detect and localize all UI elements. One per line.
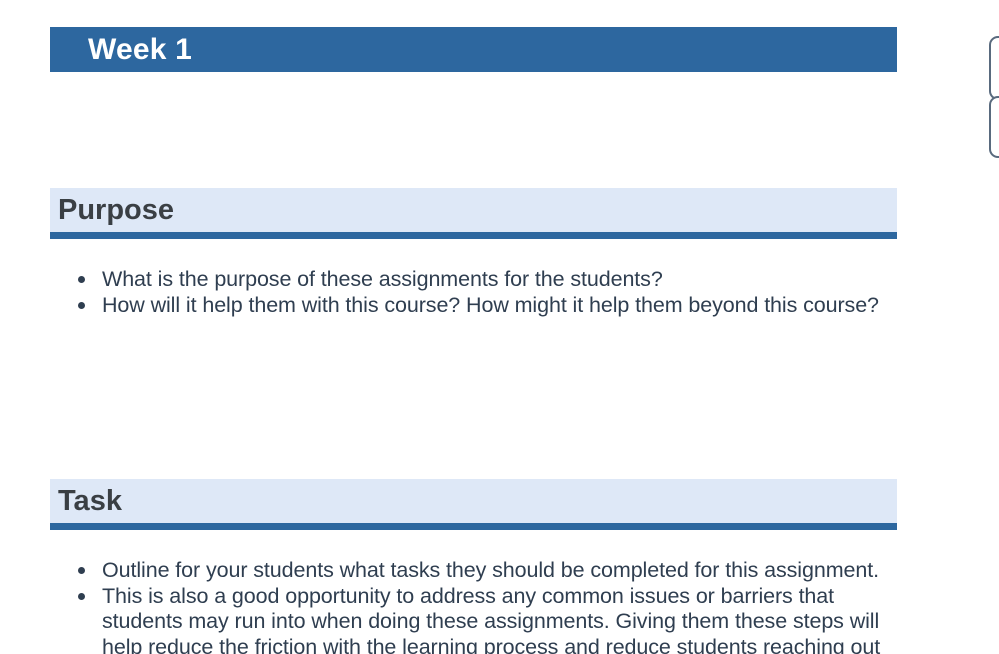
- list-item: This is also a good opportunity to addre…: [50, 584, 897, 654]
- list-item-text: How will it help them with this course? …: [102, 293, 879, 317]
- section-purpose: Purpose What is the purpose of these ass…: [50, 188, 897, 318]
- list-item-text: Outline for your students what tasks the…: [102, 558, 879, 582]
- list-item-text: This is also a good opportunity to addre…: [102, 584, 880, 654]
- task-bullet-list: Outline for your students what tasks the…: [50, 530, 897, 654]
- bullet-dot-icon: [78, 276, 85, 283]
- list-item: Outline for your students what tasks the…: [50, 558, 897, 584]
- section-purpose-rule: [50, 232, 897, 239]
- list-item-text: What is the purpose of these assignments…: [102, 267, 663, 291]
- list-item: How will it help them with this course? …: [50, 293, 897, 319]
- section-purpose-header: Purpose: [50, 188, 897, 232]
- panel-card-2[interactable]: [989, 96, 999, 158]
- document-body: Week 1 Purpose What is the purpose of th…: [50, 0, 897, 654]
- week-banner-title: Week 1: [88, 35, 192, 65]
- panel-card-1[interactable]: [989, 36, 999, 100]
- list-item: What is the purpose of these assignments…: [50, 267, 897, 293]
- side-panel: [983, 0, 999, 654]
- bullet-dot-icon: [78, 567, 85, 574]
- week-banner: Week 1: [50, 27, 897, 72]
- document-page: Week 1 Purpose What is the purpose of th…: [0, 0, 999, 654]
- banner-purpose-spacer: [50, 72, 897, 188]
- section-task-title: Task: [58, 487, 122, 516]
- bullet-dot-icon: [78, 302, 85, 309]
- purpose-bullet-list: What is the purpose of these assignments…: [50, 239, 897, 318]
- section-task-rule: [50, 523, 897, 530]
- purpose-task-spacer: [50, 318, 897, 479]
- bullet-dot-icon: [78, 593, 85, 600]
- section-purpose-title: Purpose: [58, 196, 174, 225]
- section-task: Task Outline for your students what task…: [50, 479, 897, 654]
- section-task-header: Task: [50, 479, 897, 523]
